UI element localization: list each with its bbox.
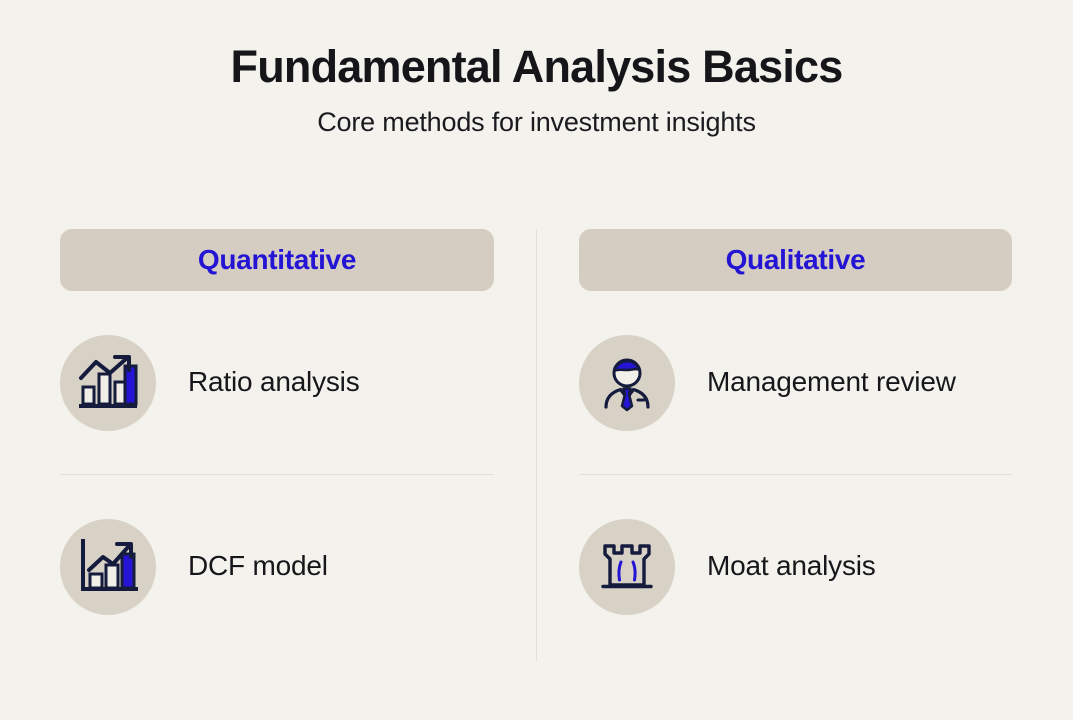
list-item[interactable]: Ratio analysis — [60, 291, 494, 474]
column-heading-label: Quantitative — [198, 246, 356, 274]
page-subtitle: Core methods for investment insights — [0, 89, 1073, 136]
icon-circle — [579, 519, 675, 615]
page-title: Fundamental Analysis Basics — [0, 44, 1073, 89]
castle-tower-icon — [598, 540, 656, 594]
column-header-quantitative: Quantitative — [60, 229, 494, 291]
columns-container: Quantitative — [0, 229, 1073, 658]
header: Fundamental Analysis Basics Core methods… — [0, 0, 1073, 136]
column-quantitative: Quantitative — [0, 229, 536, 658]
icon-circle — [60, 335, 156, 431]
businessperson-icon — [598, 354, 656, 412]
list-item-label: Management review — [675, 366, 956, 398]
list-item[interactable]: Moat analysis — [579, 475, 1012, 658]
items-quantitative: Ratio analysis — [60, 291, 494, 658]
list-item-label: Ratio analysis — [156, 366, 360, 398]
list-item-label: Moat analysis — [675, 550, 876, 582]
column-heading-label: Qualitative — [726, 246, 866, 274]
items-qualitative: Management review — [579, 291, 1012, 658]
list-item-label: DCF model — [156, 550, 328, 582]
list-item[interactable]: DCF model — [60, 475, 494, 658]
infographic-page: Fundamental Analysis Basics Core methods… — [0, 0, 1073, 720]
list-item[interactable]: Management review — [579, 291, 1012, 474]
column-qualitative: Qualitative — [536, 229, 1072, 658]
icon-circle — [60, 519, 156, 615]
bar-chart-axis-uptrend-icon — [77, 538, 139, 596]
bar-chart-uptrend-icon — [77, 354, 139, 412]
icon-circle — [579, 335, 675, 431]
column-header-qualitative: Qualitative — [579, 229, 1012, 291]
